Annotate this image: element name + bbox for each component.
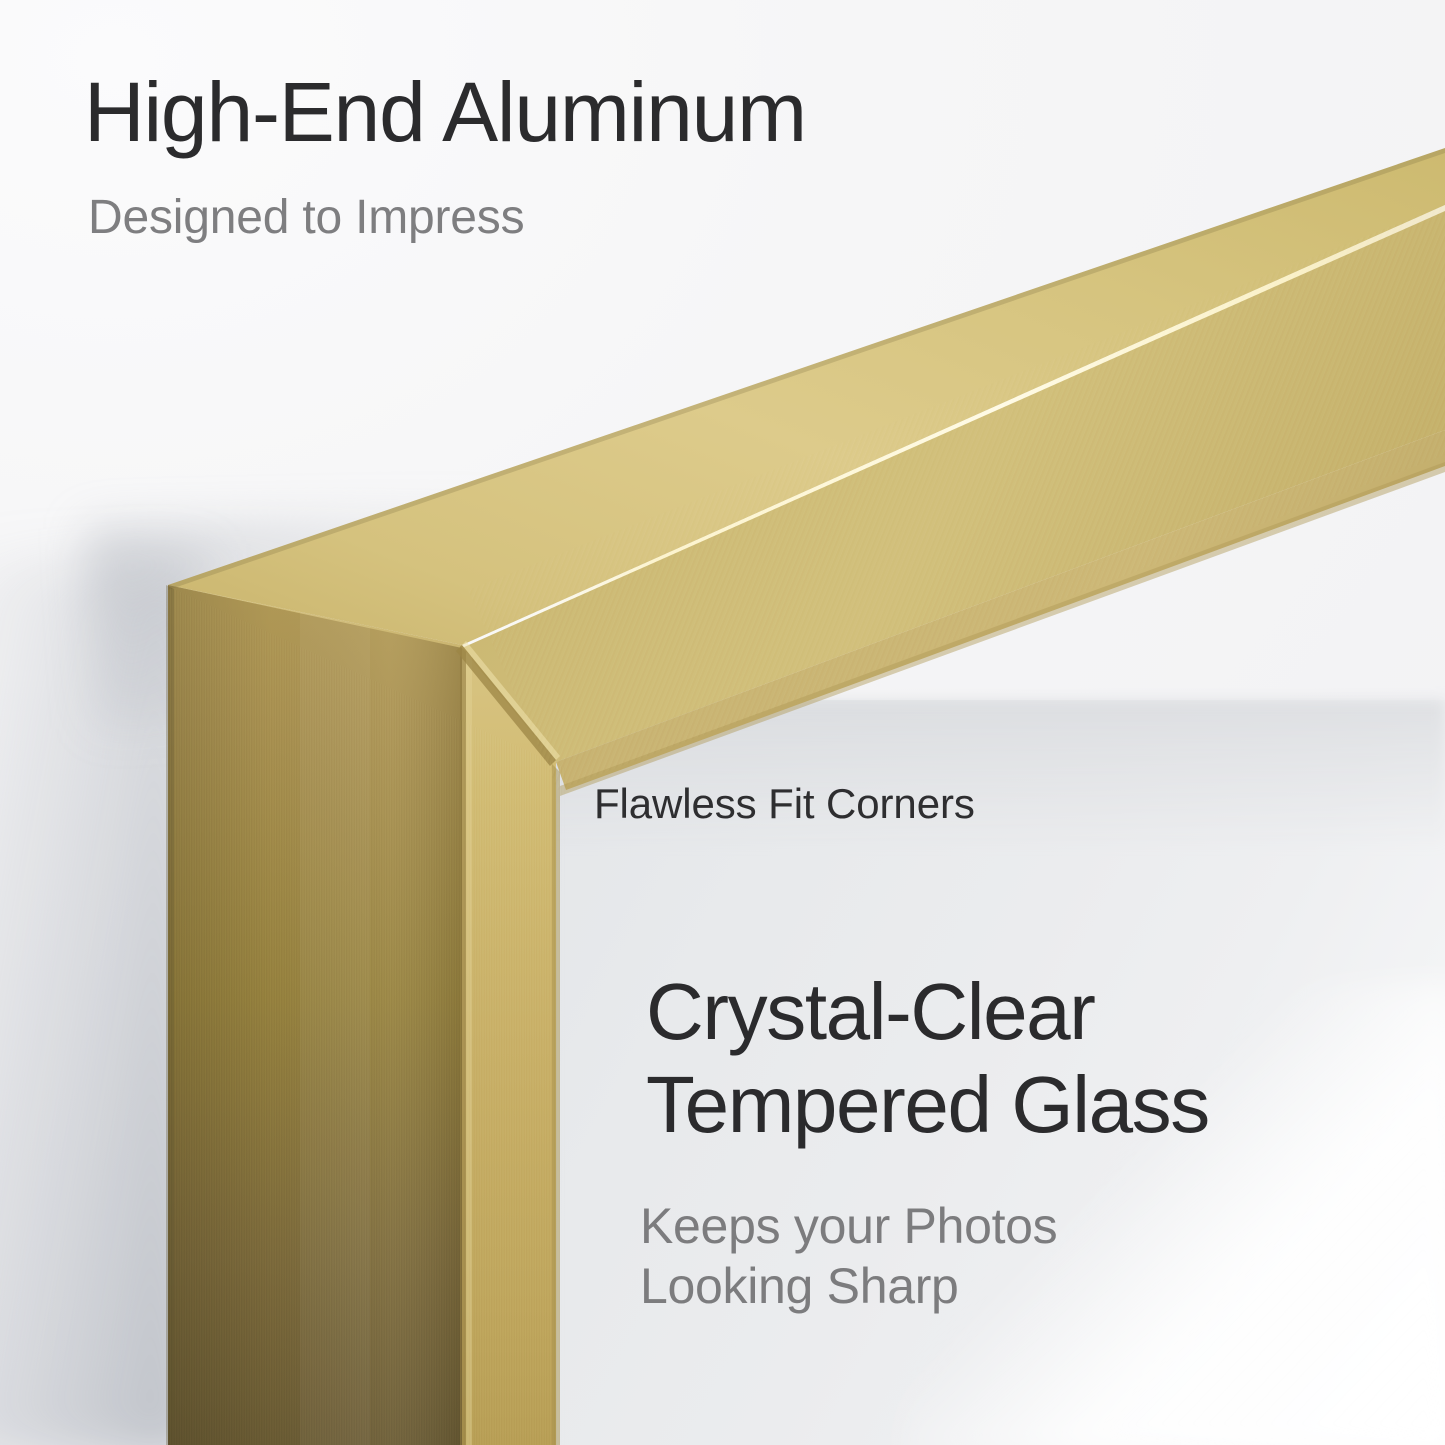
frame-left-stile-edge-highlight: [466, 652, 472, 1445]
callout-glass-sub-line1: Keeps your Photos: [640, 1198, 1057, 1254]
frame-corner-sheen: [300, 612, 370, 1445]
callout-glass-title-line1: Crystal-Clear: [646, 967, 1095, 1056]
callout-glass-title: Crystal-ClearTempered Glass: [646, 966, 1209, 1152]
frame-left-stile-edge-line: [460, 646, 466, 1445]
product-feature-image: High-End Aluminum Designed to Impress Fl…: [0, 0, 1445, 1445]
callout-glass-subtitle: Keeps your PhotosLooking Sharp: [640, 1196, 1057, 1316]
frame-left-stile-inner-bevel: [462, 648, 556, 1445]
frame-left-stile-aperture-edge: [552, 764, 560, 1445]
callout-glass-sub-line2: Looking Sharp: [640, 1258, 959, 1314]
page-subtitle: Designed to Impress: [88, 192, 524, 245]
callout-glass-title-line2: Tempered Glass: [646, 1060, 1209, 1149]
page-title: High-End Aluminum: [84, 68, 806, 156]
frame-left-outer-edge: [166, 585, 174, 1445]
callout-corner-label: Flawless Fit Corners: [594, 780, 975, 828]
